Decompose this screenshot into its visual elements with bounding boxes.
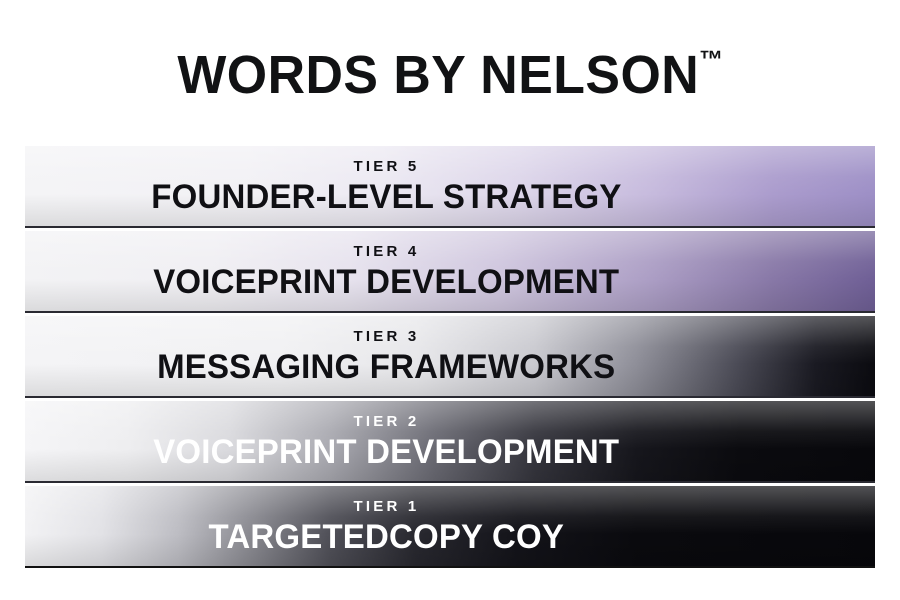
tier-title-1: TARGETEDCOPY COY bbox=[209, 520, 565, 554]
tier-label-1: TIER 1 bbox=[354, 499, 420, 514]
tier-band-1[interactable]: TIER 1 TARGETEDCOPY COY bbox=[25, 486, 875, 568]
tier-title-2: VOICEPRINT DEVELOPMENT bbox=[153, 435, 619, 469]
tier-band-3[interactable]: TIER 3 MESSAGING FRAMEWORKS bbox=[25, 316, 875, 398]
tier-label-3: TIER 3 bbox=[354, 329, 420, 344]
tier-title-4: VOICEPRINT DEVELOPMENT bbox=[153, 265, 619, 299]
tier-band-4[interactable]: TIER 4 VOICEPRINT DEVELOPMENT bbox=[25, 231, 875, 313]
tier-band-2[interactable]: TIER 2 VOICEPRINT DEVELOPMENT bbox=[25, 401, 875, 483]
tier-band-2-content: TIER 2 VOICEPRINT DEVELOPMENT bbox=[25, 401, 875, 481]
tier-title-5: FOUNDER-LEVEL STRATEGY bbox=[151, 180, 621, 214]
poster-canvas: WORDS BY NELSON™ TIER 5 FOUNDER-LEVEL ST… bbox=[0, 0, 900, 600]
tier-band-5-content: TIER 5 FOUNDER-LEVEL STRATEGY bbox=[25, 146, 875, 226]
tier-label-5: TIER 5 bbox=[354, 159, 420, 174]
tier-band-5[interactable]: TIER 5 FOUNDER-LEVEL STRATEGY bbox=[25, 146, 875, 228]
tier-stack: TIER 5 FOUNDER-LEVEL STRATEGY TIER 4 VOI… bbox=[25, 146, 875, 570]
page-title: WORDS BY NELSON™ bbox=[177, 48, 723, 102]
tier-title-3: MESSAGING FRAMEWORKS bbox=[157, 350, 615, 384]
tier-band-3-content: TIER 3 MESSAGING FRAMEWORKS bbox=[25, 316, 875, 396]
trademark-symbol: ™ bbox=[699, 46, 723, 74]
tier-label-2: TIER 2 bbox=[354, 414, 420, 429]
poster-header: WORDS BY NELSON™ bbox=[0, 0, 900, 142]
tier-band-1-content: TIER 1 TARGETEDCOPY COY bbox=[25, 486, 875, 566]
tier-band-4-content: TIER 4 VOICEPRINT DEVELOPMENT bbox=[25, 231, 875, 311]
brand-name: WORDS BY NELSON bbox=[177, 45, 699, 105]
tier-label-4: TIER 4 bbox=[354, 244, 420, 259]
